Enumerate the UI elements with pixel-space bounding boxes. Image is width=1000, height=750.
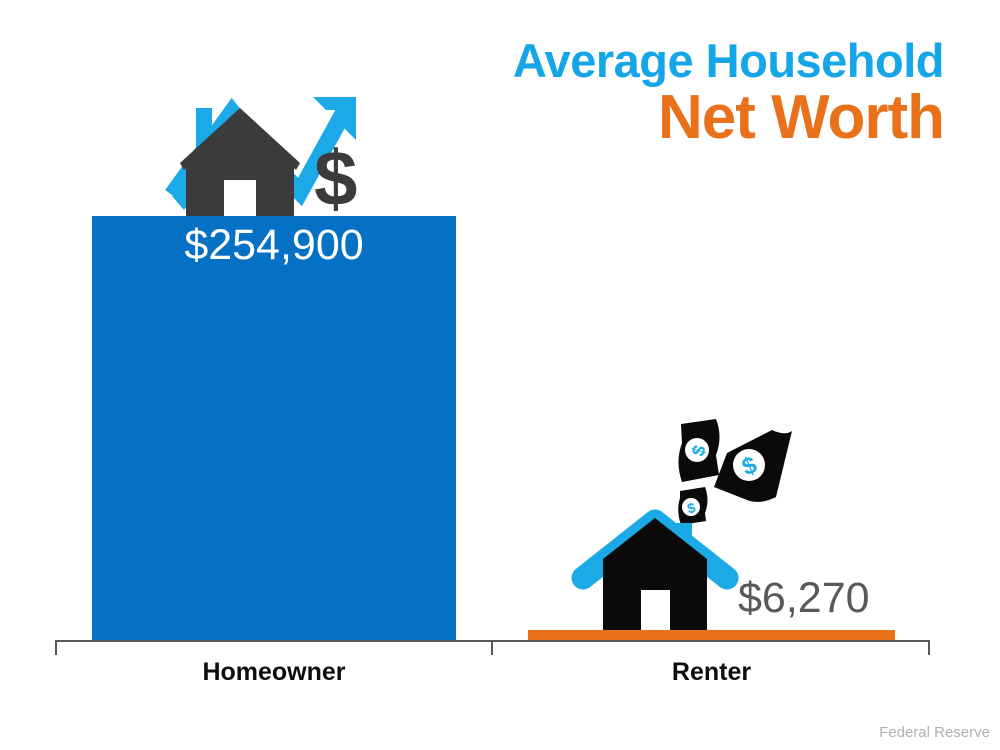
chart-title: Average Household Net Worth [513, 38, 944, 149]
house-chimney-renter [671, 523, 692, 565]
x-axis-tick-middle [491, 641, 493, 655]
chart-title-line2: Net Worth [513, 88, 944, 149]
house-door-renter [641, 590, 670, 630]
x-axis-tick-right [928, 641, 930, 655]
money-bill-3: $ [678, 487, 707, 525]
house-body-homeowner [186, 110, 294, 216]
value-label-homeowner: $254,900 [92, 221, 456, 270]
homeowner-icon-group: $ [172, 97, 357, 222]
x-axis-tick-left [55, 641, 57, 655]
money-bill-1: $ [679, 419, 720, 482]
house-roof-accent [172, 112, 244, 210]
category-label-renter: Renter [528, 658, 895, 687]
svg-text:$: $ [738, 451, 761, 481]
money-bill-2: $ [714, 430, 792, 502]
house-gable-homeowner [180, 108, 300, 170]
bar-homeowner [92, 216, 456, 641]
chart-title-line1: Average Household [513, 38, 944, 84]
category-label-homeowner: Homeowner [92, 658, 456, 687]
source-attribution: Federal Reserve [879, 724, 990, 741]
svg-text:$: $ [688, 443, 710, 459]
svg-text:$: $ [685, 499, 697, 517]
trend-arrow-head [313, 97, 356, 140]
house-roof-renter [583, 521, 727, 578]
house-door-homeowner [224, 180, 256, 216]
dollar-sign-icon: $ [314, 134, 357, 222]
value-label-renter: $6,270 [738, 574, 870, 623]
house-body-renter [603, 518, 707, 630]
rising-trend-line [172, 110, 345, 195]
house-chimney-accent [196, 108, 212, 148]
